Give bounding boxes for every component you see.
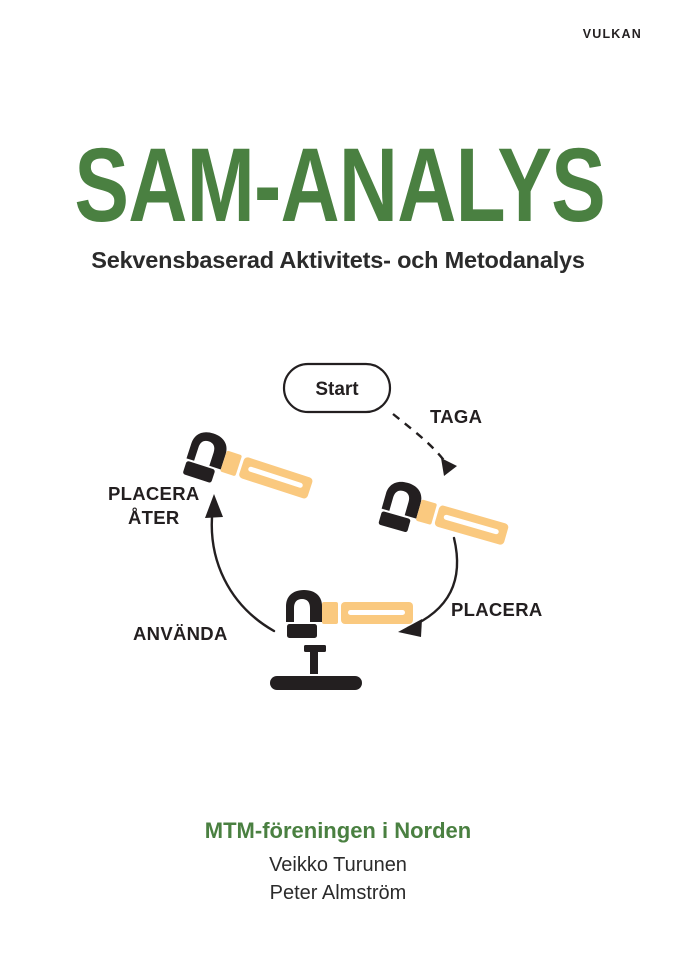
author-name-2: Peter Almström (0, 879, 676, 907)
hammer-icon-anvanda (286, 590, 413, 638)
arrow-placera-ater-head (205, 494, 223, 518)
page-subtitle: Sekvensbaserad Aktivitets- och Metodanal… (0, 247, 676, 274)
organization-name: MTM-föreningen i Norden (0, 818, 676, 844)
hammer-icon-placera-ater (182, 428, 318, 513)
hammer-icon-taga (377, 478, 512, 559)
label-placera: PLACERA (451, 599, 543, 620)
label-placera-ater-line2: ÅTER (128, 507, 180, 528)
diagram-node-start[interactable]: Start (284, 364, 390, 412)
label-placera-ater-line1: PLACERA (108, 483, 200, 504)
workflow-diagram: Start TAGA PLACERA (78, 348, 598, 718)
start-node-label: Start (315, 379, 359, 400)
label-taga: TAGA (430, 406, 482, 427)
arrow-placera-ater (205, 494, 274, 631)
page-title: SAM-ANALYS (74, 138, 601, 235)
label-anvanda: ANVÄNDA (133, 623, 228, 644)
arrow-placera-ater-path (212, 506, 274, 631)
arrow-taga-head (441, 458, 457, 476)
book-cover: VULKAN SAM-ANALYS Sekvensbaserad Aktivit… (0, 0, 676, 969)
nail-and-board-icon (270, 645, 362, 690)
publisher-logo: VULKAN (583, 27, 642, 41)
credits-block: MTM-föreningen i Norden Veikko Turunen P… (0, 818, 676, 908)
title-block: SAM-ANALYS Sekvensbaserad Aktivitets- oc… (0, 138, 676, 274)
author-name-1: Veikko Turunen (0, 851, 676, 879)
arrow-placera-path (408, 538, 457, 628)
